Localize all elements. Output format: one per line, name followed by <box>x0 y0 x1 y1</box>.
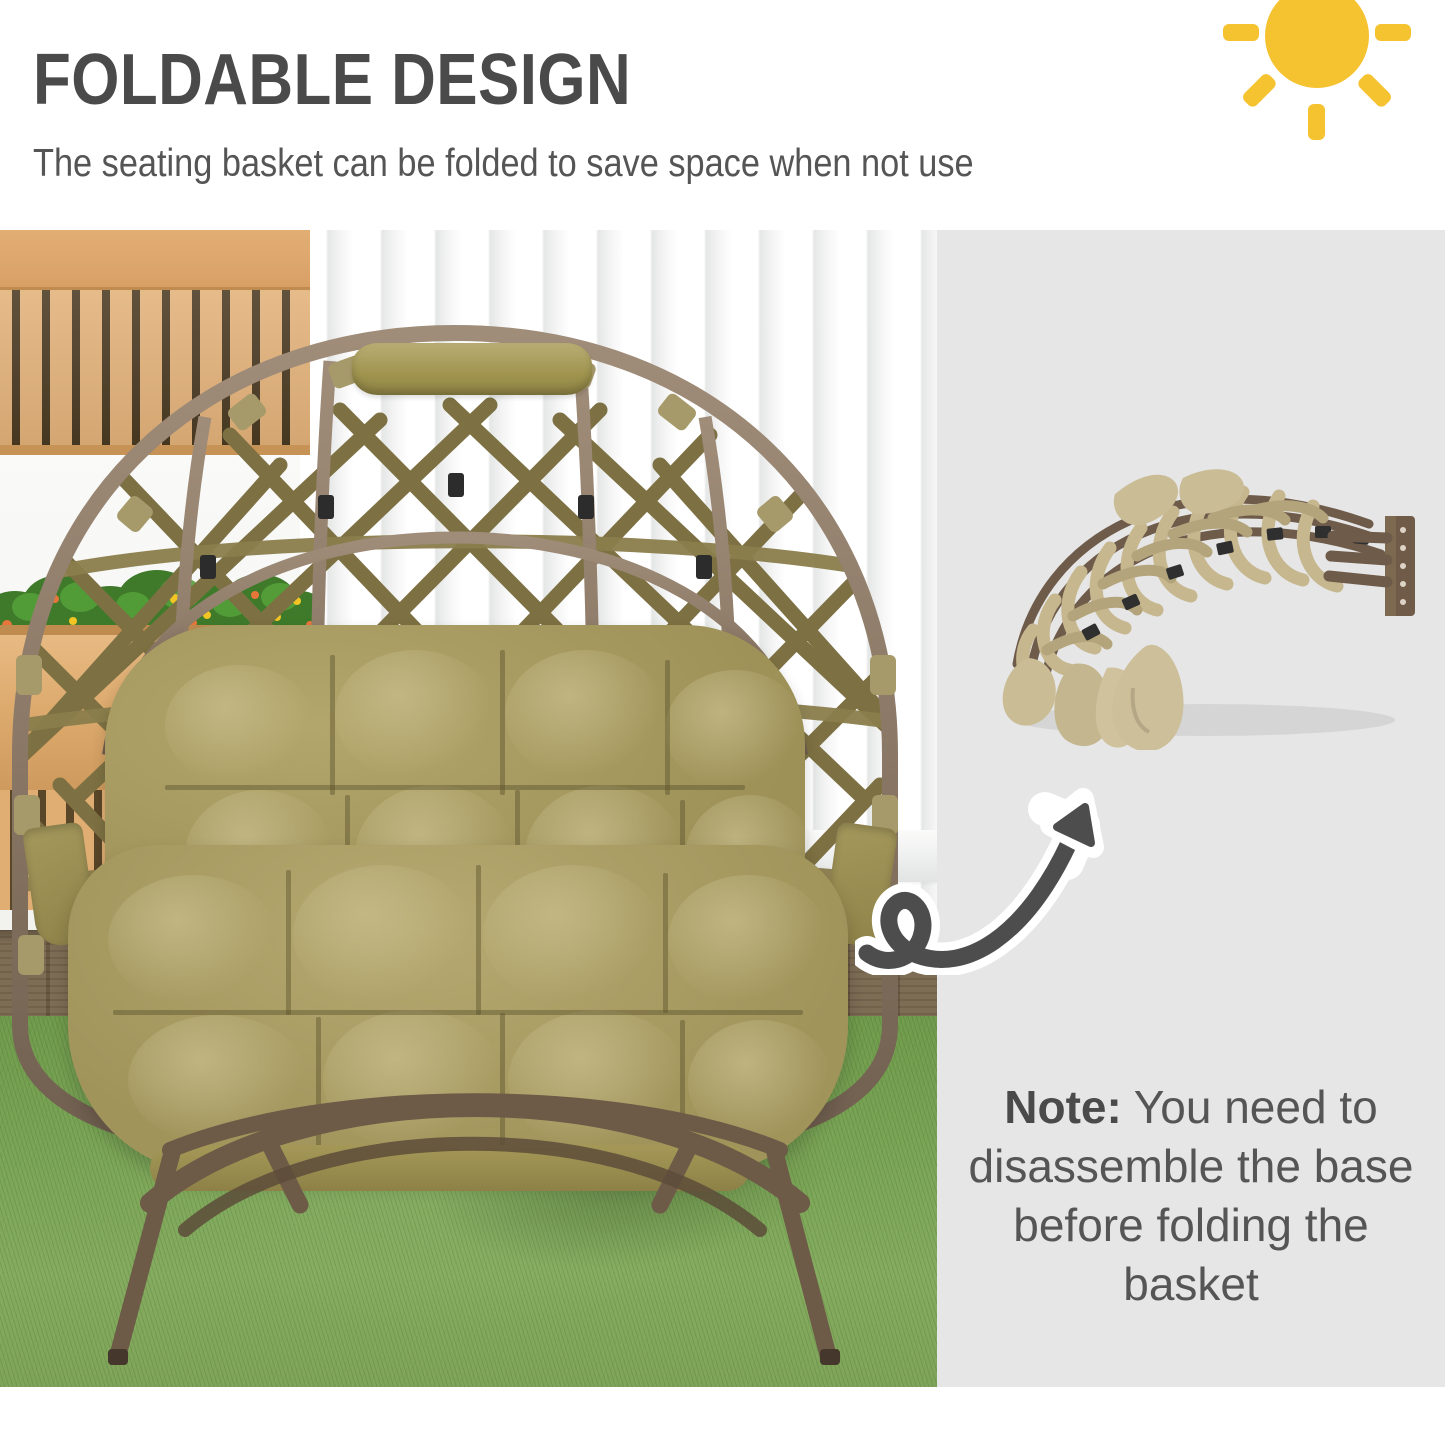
mounting-bracket <box>1385 516 1415 616</box>
main-product-photo <box>0 230 937 1387</box>
curved-loop-arrow-icon <box>855 785 1125 975</box>
foot-left <box>108 1349 128 1365</box>
product-feature-image: FOLDABLE DESIGN The seating basket can b… <box>0 0 1445 1445</box>
foot-right <box>820 1349 840 1365</box>
planter-top-board <box>0 230 310 290</box>
page-title: FOLDABLE DESIGN <box>33 44 631 116</box>
sun-icon <box>1217 0 1417 143</box>
chair-base <box>0 325 937 1385</box>
page-subtitle: The seating basket can be folded to save… <box>33 142 974 187</box>
fabric-pouch <box>1112 645 1183 750</box>
note-text: Note: You need to disassemble the base b… <box>937 1078 1445 1314</box>
header-band: FOLDABLE DESIGN The seating basket can b… <box>0 0 1445 230</box>
folded-basket-image <box>955 420 1437 750</box>
note-label: Note: <box>1004 1081 1122 1133</box>
basket-chair <box>0 325 937 1385</box>
